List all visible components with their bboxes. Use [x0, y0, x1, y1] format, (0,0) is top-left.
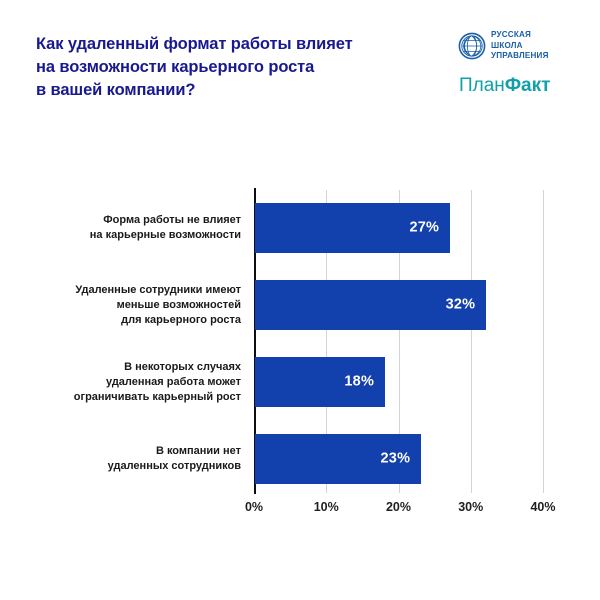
bar-chart: 0%10%20%30%40%27%Форма работы не влияетн… [0, 0, 600, 600]
x-axis-tick-label: 30% [441, 500, 501, 514]
plot-area: 0%10%20%30%40%27%Форма работы не влияетн… [254, 190, 543, 493]
category-label-line: Удаленные сотрудники имеют [11, 283, 241, 298]
bar[interactable]: 18%В некоторых случаяхудаленная работа м… [255, 357, 385, 407]
bar-value-label: 18% [344, 374, 374, 390]
category-label-line: удаленная работа может [11, 375, 241, 390]
category-label-line: меньше возможностей [11, 298, 241, 313]
bar[interactable]: 23%В компании нетудаленных сотрудников [255, 434, 421, 484]
category-label: В компании нетудаленных сотрудников [11, 444, 241, 474]
x-axis-tick-label: 20% [369, 500, 429, 514]
category-label-line: В некоторых случаях [11, 360, 241, 375]
category-label-line: для карьерного роста [11, 313, 241, 328]
bar-value-label: 23% [381, 451, 411, 467]
bar[interactable]: 32%Удаленные сотрудники имеютменьше возм… [255, 280, 486, 330]
x-axis-tick-label: 40% [513, 500, 573, 514]
category-label-line: на карьерные возможности [11, 228, 241, 243]
gridline [543, 190, 544, 493]
x-axis-tick-label: 10% [296, 500, 356, 514]
category-label: Удаленные сотрудники имеютменьше возможн… [11, 283, 241, 328]
category-label-line: В компании нет [11, 444, 241, 459]
x-axis-tick-label: 0% [224, 500, 284, 514]
category-label-line: Форма работы не влияет [11, 213, 241, 228]
category-label: Форма работы не влияетна карьерные возмо… [11, 213, 241, 243]
bar[interactable]: 27%Форма работы не влияетна карьерные во… [255, 203, 450, 253]
category-label: В некоторых случаяхудаленная работа може… [11, 360, 241, 405]
gridline [471, 190, 472, 493]
category-label-line: ограничивать карьерный рост [11, 390, 241, 405]
bar-value-label: 32% [446, 297, 476, 313]
category-label-line: удаленных сотрудников [11, 459, 241, 474]
bar-value-label: 27% [409, 220, 439, 236]
